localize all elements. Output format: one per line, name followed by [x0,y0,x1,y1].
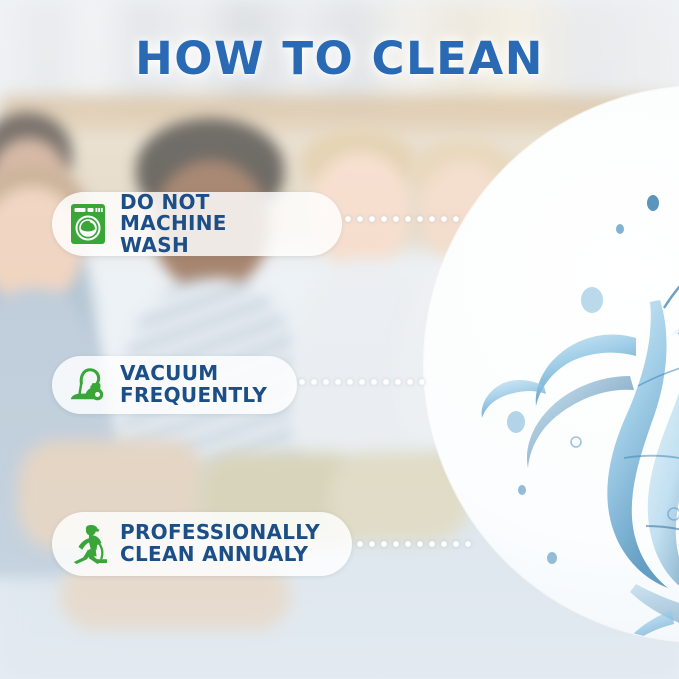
tip-badge-professionally-clean-annualy[interactable]: PROFESSIONALLY CLEAN ANNUALY [52,512,352,576]
connector-dots-3 [354,541,472,547]
infographic-poster: HOW TO CLEAN DO NOT MACHINE WASH [0,0,679,679]
page-title: HOW TO CLEAN [0,32,679,85]
washing-machine-icon [68,202,108,246]
vacuum-cleaner-icon [68,363,108,407]
tip-label: DO NOT MACHINE WASH [120,192,316,257]
connector-dots-1 [342,216,462,222]
connector-dots-2 [296,379,424,385]
tip-label: VACUUM FREQUENTLY [120,363,267,406]
carpet-cleaner-person-icon [68,522,108,566]
tip-badge-do-not-machine-wash[interactable]: DO NOT MACHINE WASH [52,192,342,256]
tip-badge-vacuum-frequently[interactable]: VACUUM FREQUENTLY [52,356,297,414]
water-splash-circle [424,86,679,642]
tip-label: PROFESSIONALLY CLEAN ANNUALY [120,522,320,565]
water-splash-image [424,86,679,642]
